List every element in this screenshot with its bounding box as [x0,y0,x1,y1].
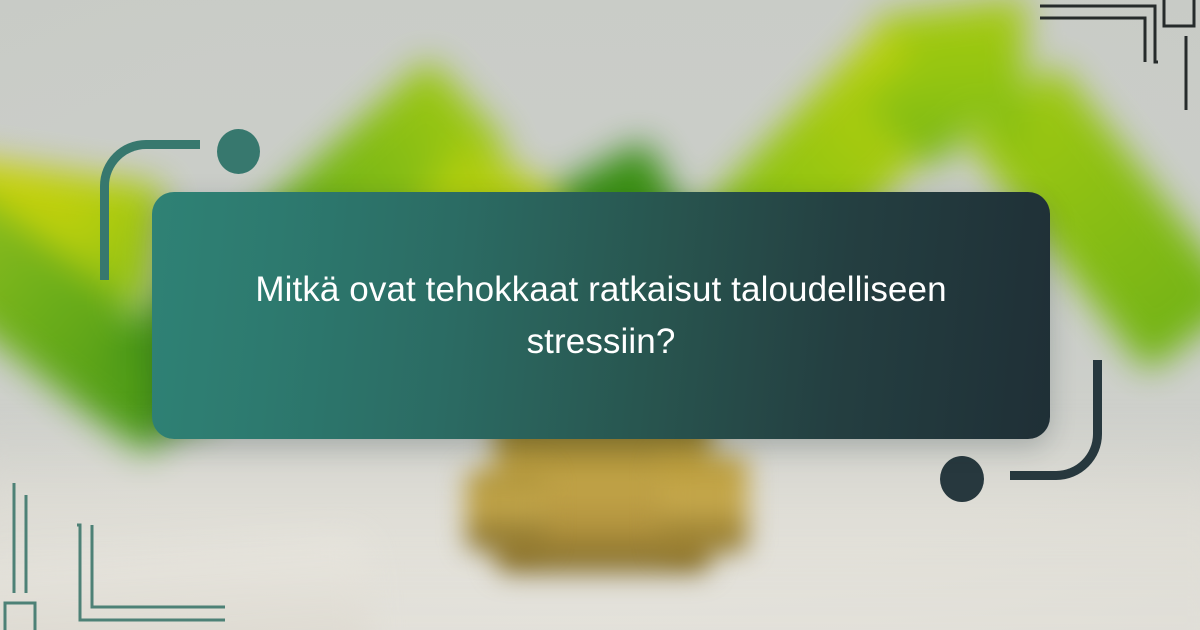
accent-dot-bottom-right-icon [940,456,984,502]
accent-dot-top-left-icon [217,129,260,174]
page-title: Mitkä ovat tehokkaat ratkaisut taloudell… [206,264,996,368]
corner-frame-top-right-icon [1040,0,1200,110]
headline-card: Mitkä ovat tehokkaat ratkaisut taloudell… [152,192,1050,439]
poster-canvas: Mitkä ovat tehokkaat ratkaisut taloudell… [0,0,1200,630]
corner-frame-bottom-left-icon [0,475,225,630]
